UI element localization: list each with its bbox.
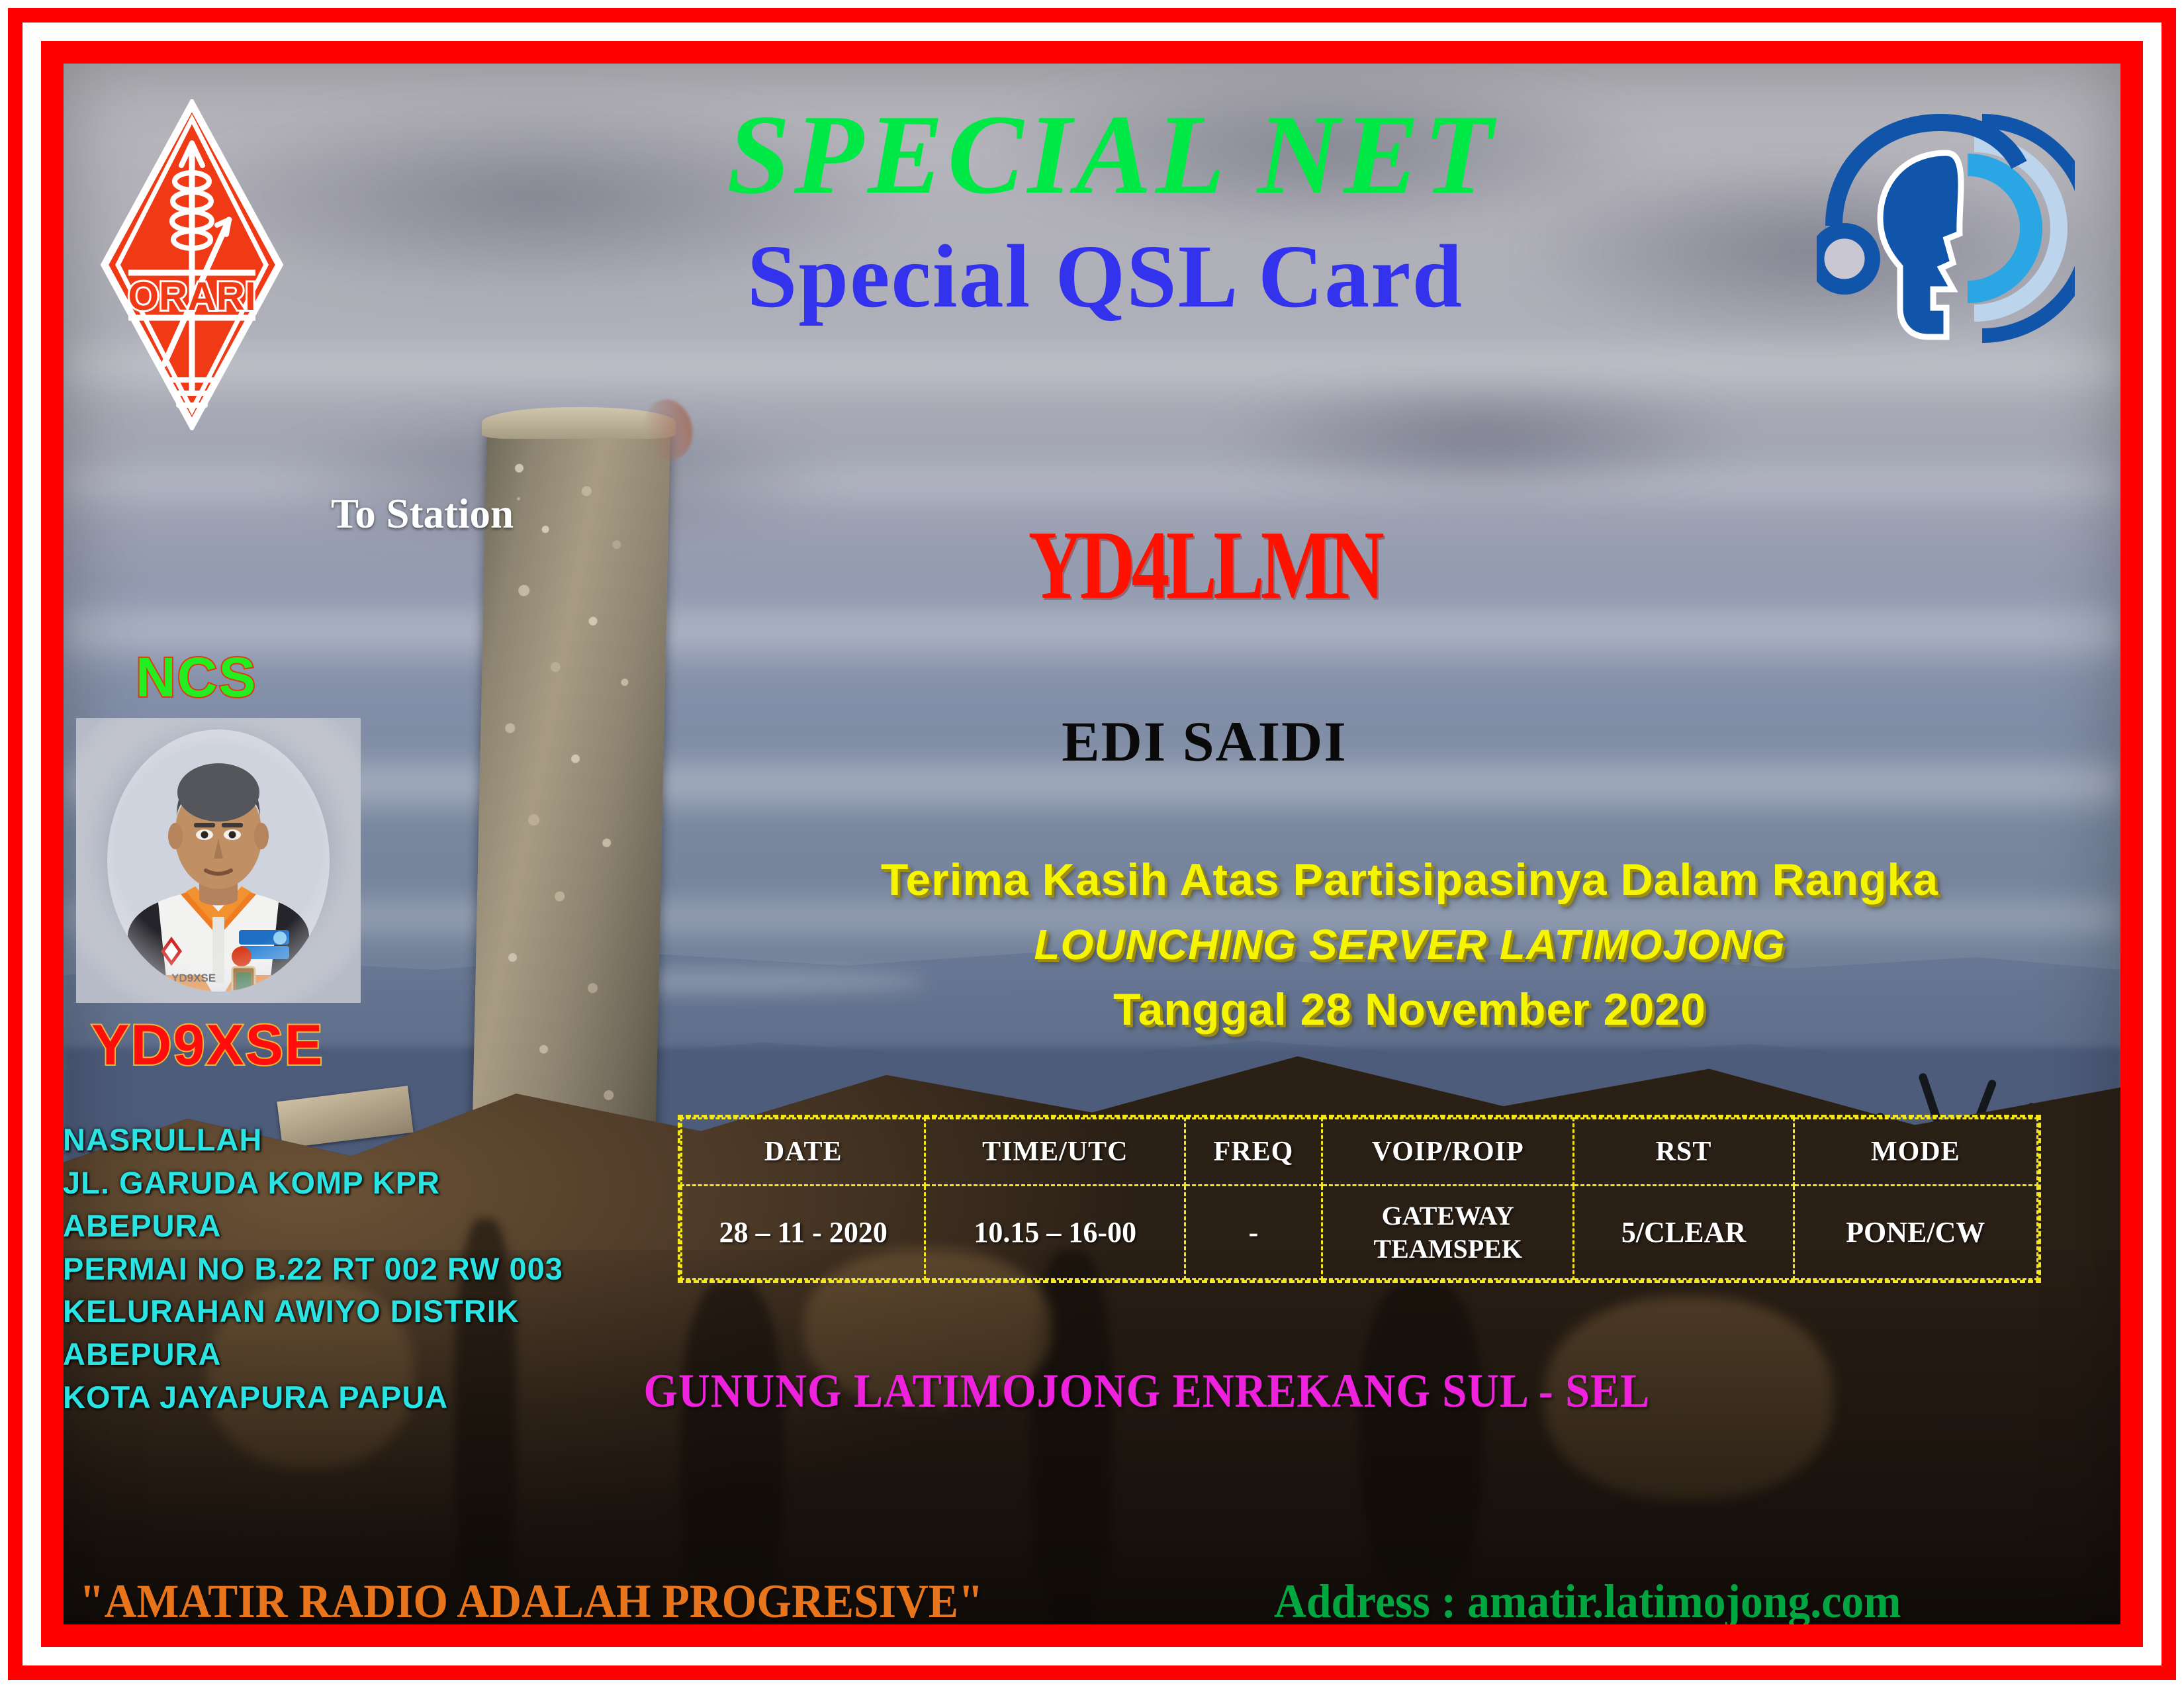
frame-inner-red [41, 41, 2143, 1647]
qsl-card: ORARI [0, 0, 2184, 1688]
